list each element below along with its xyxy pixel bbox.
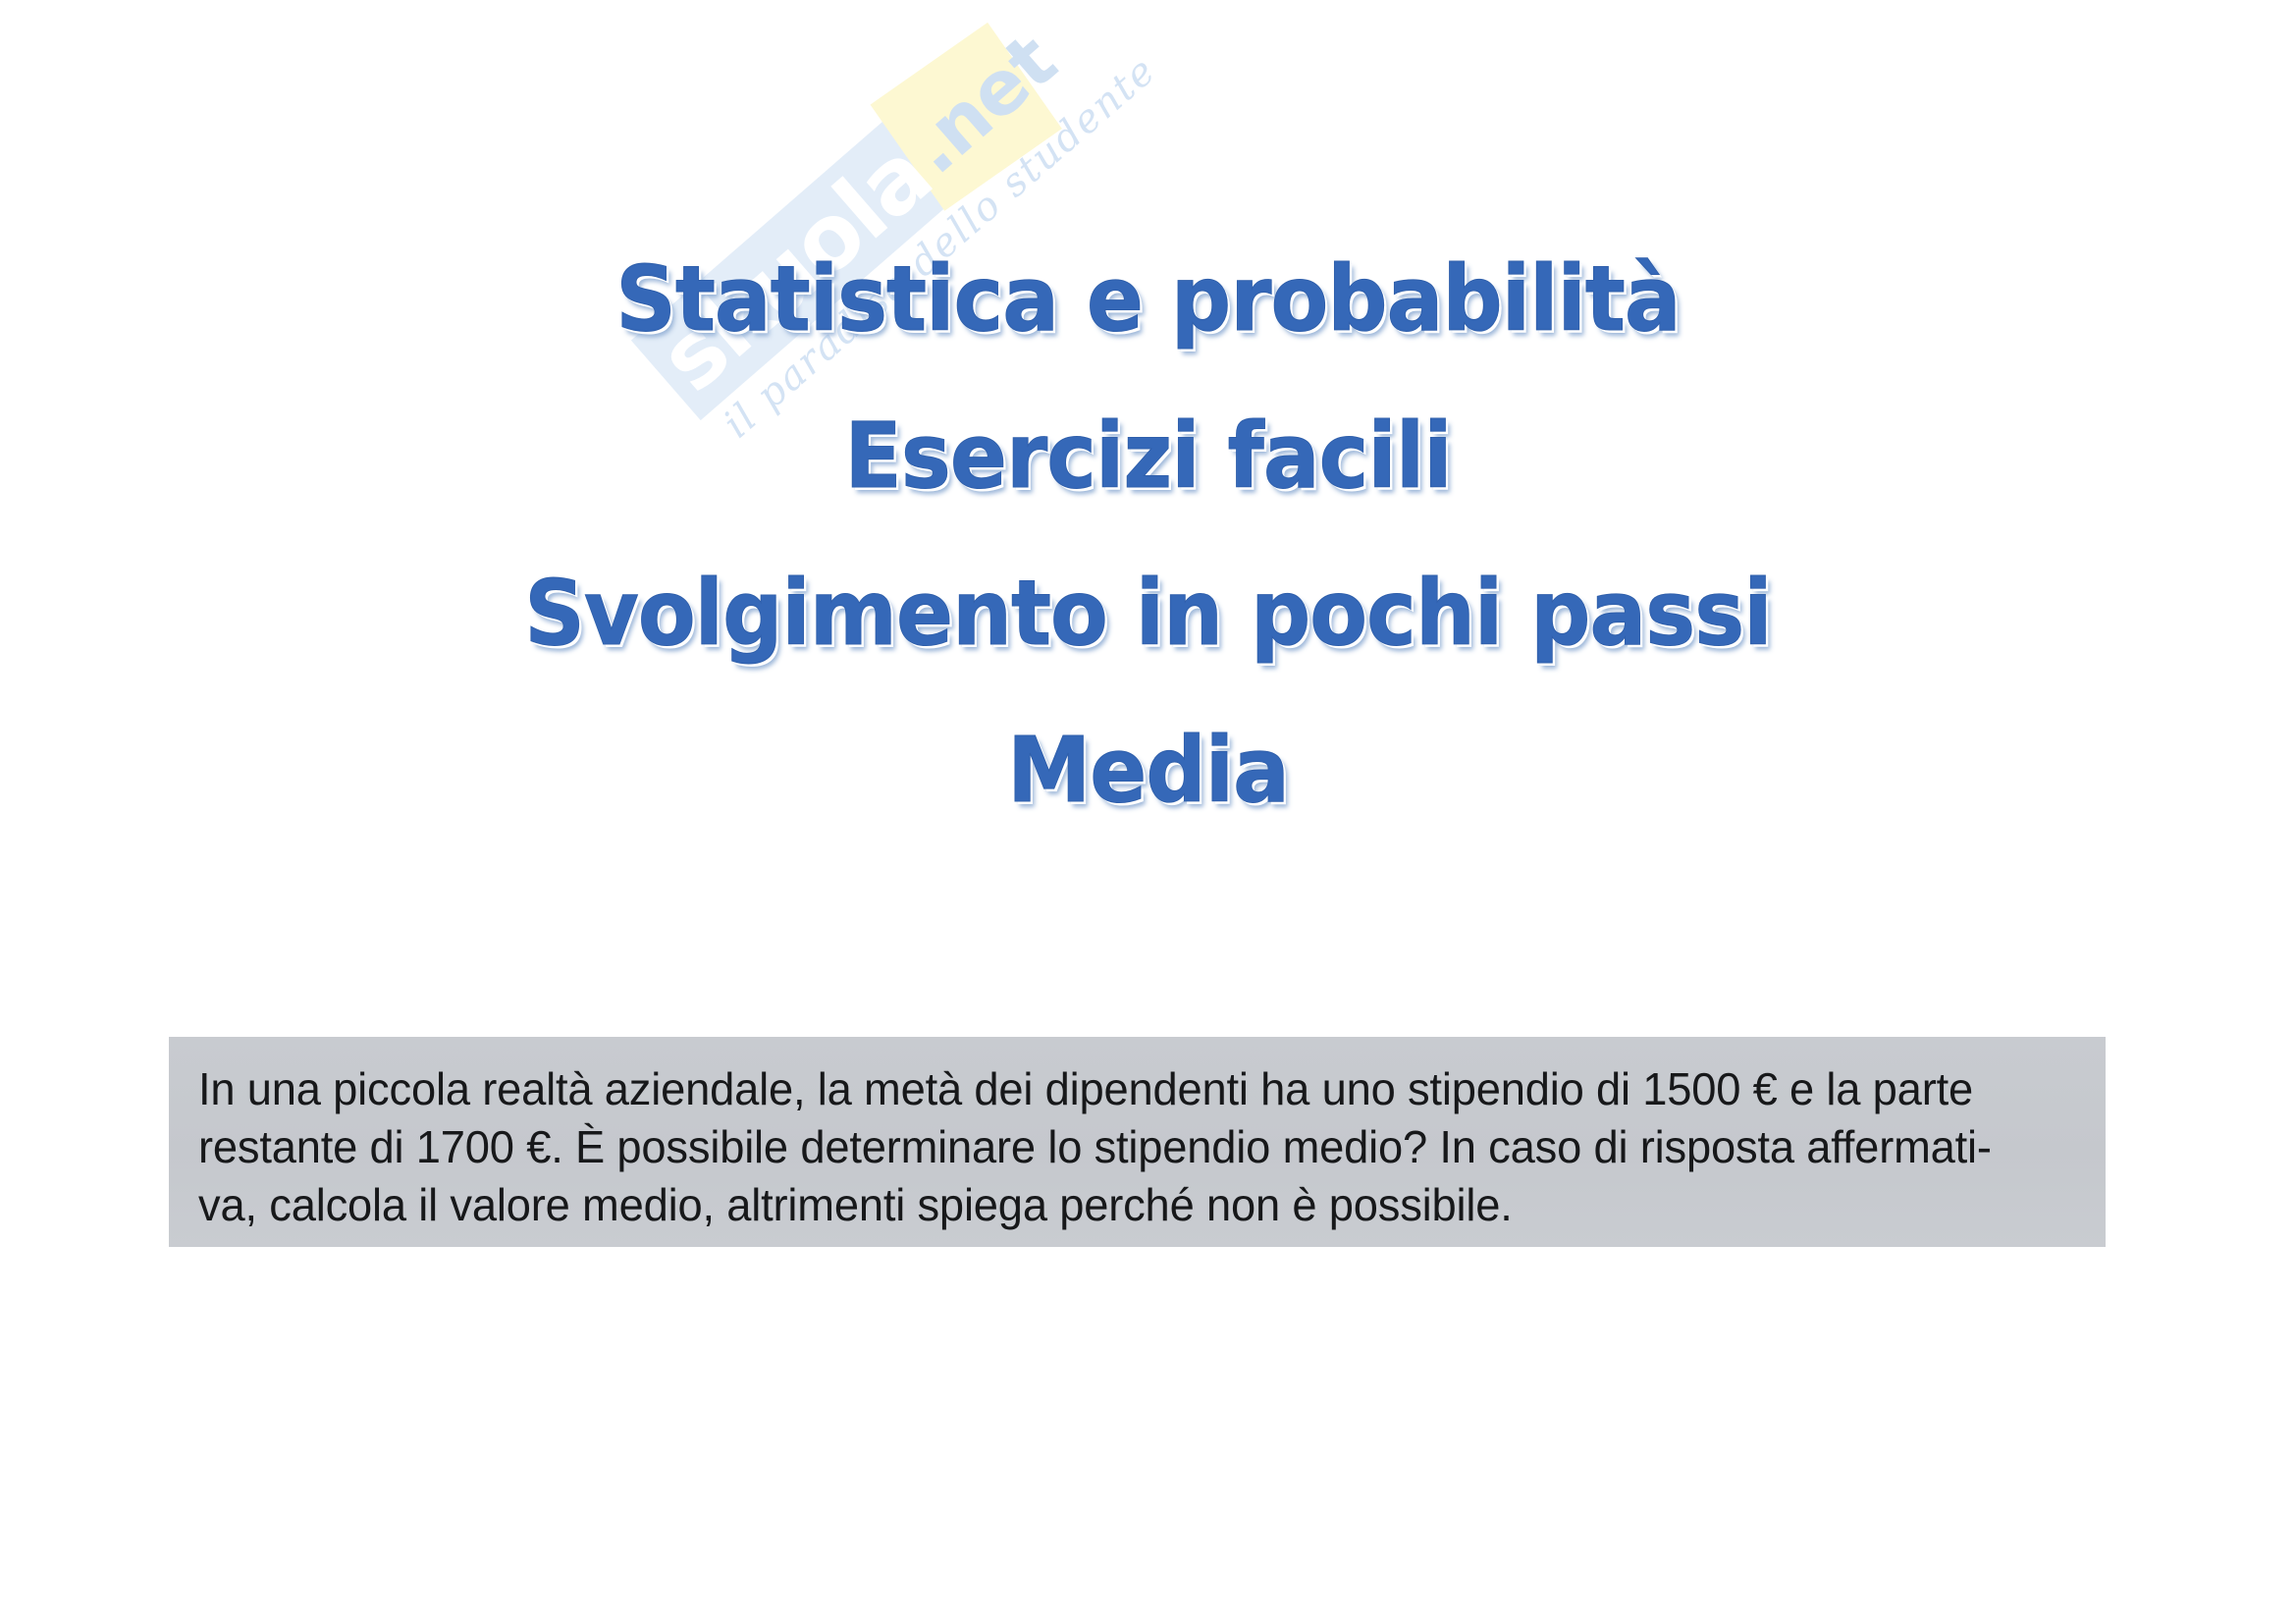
exercise-line: restante di 1700 €. È possibile determin… bbox=[198, 1118, 2048, 1176]
exercise-line: va, calcola il valore medio, altrimenti … bbox=[198, 1176, 2048, 1234]
watermark-yellow-tile bbox=[871, 23, 1062, 211]
page-title-line-2: Esercizi facili bbox=[80, 404, 2216, 509]
page-title-line-4: Media bbox=[80, 718, 2216, 823]
exercise-line: In una piccola realtà aziendale, la metà… bbox=[198, 1060, 2048, 1118]
exercise-statement-text: In una piccola realtà aziendale, la metà… bbox=[198, 1060, 2048, 1234]
slide-page: skuola .net il paradiso dello studente S… bbox=[0, 0, 2296, 1623]
watermark-skuola-net: skuola .net il paradiso dello studente bbox=[589, 10, 1139, 422]
watermark-domain-text: .net bbox=[886, 23, 1066, 197]
exercise-statement-box: In una piccola realtà aziendale, la metà… bbox=[169, 1037, 2106, 1247]
watermark-band bbox=[631, 37, 1049, 420]
page-title-line-1: Statistica e probabilità bbox=[80, 246, 2216, 352]
page-title-line-3: Svolgimento in pochi passi bbox=[80, 561, 2216, 666]
